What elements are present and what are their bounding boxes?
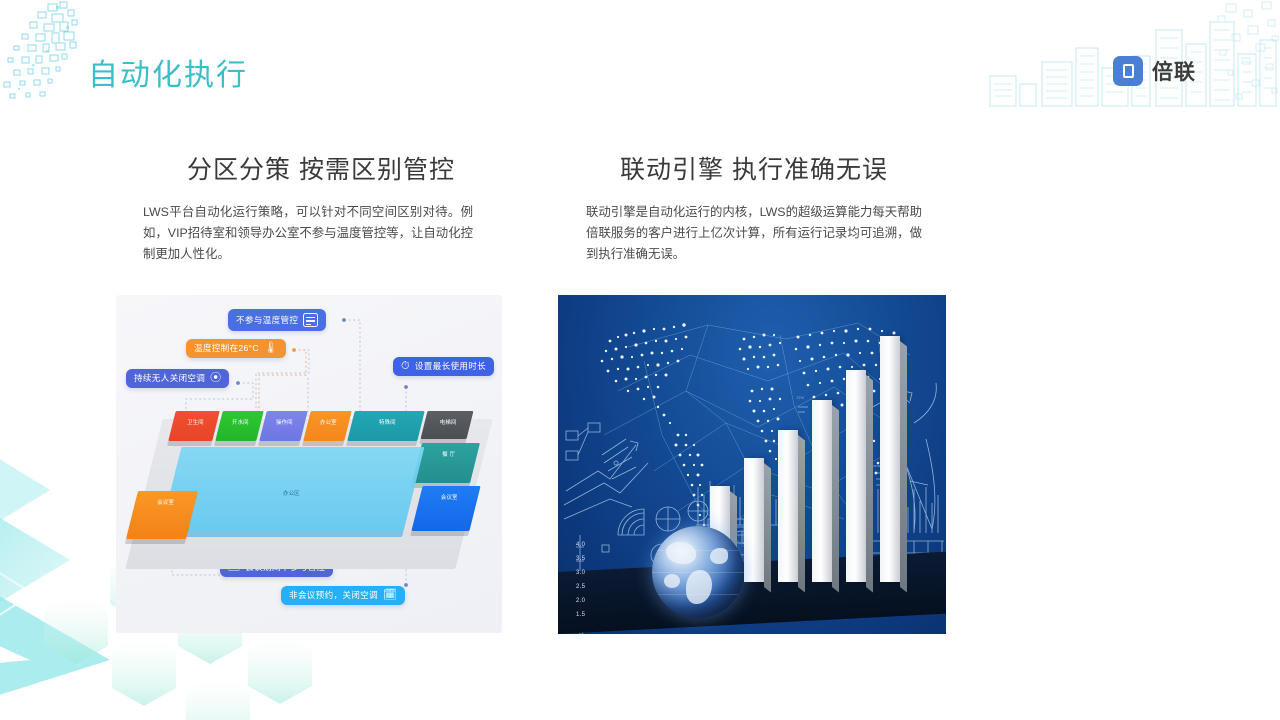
- chip-label: 温度控制在26°C: [194, 344, 259, 353]
- brand-name: 倍联: [1152, 56, 1196, 86]
- room-block-elevator-room[interactable]: 电梯间: [421, 411, 474, 439]
- timer-icon: ⏱: [401, 361, 410, 372]
- thermometer-icon: 🌡: [264, 343, 278, 354]
- room-block-water-room[interactable]: 开水间: [215, 411, 263, 441]
- axis-tick-5: 1.5: [576, 612, 585, 618]
- bar-4: [812, 400, 832, 582]
- column-right: 联动引擎 执行准确无误 联动引擎是自动化运行的内核，LWS的超级运算能力每天帮助…: [558, 150, 950, 265]
- room-block-office[interactable]: 办公室: [303, 411, 351, 441]
- motion-sensor-icon: ⦿: [210, 373, 221, 384]
- axis-tick-1: 3.5: [576, 556, 585, 562]
- chip-close-ac-without-booking[interactable]: 非会议预约，关闭空调 🗓: [281, 586, 405, 605]
- bar-3: [778, 430, 798, 582]
- room-block-special-room[interactable]: 特殊间: [347, 411, 424, 441]
- svg-text:72%: 72%: [796, 395, 804, 400]
- brand-logo: 倍联: [1113, 56, 1196, 86]
- calendar-clock-icon: 🗓: [383, 590, 397, 601]
- brand-mark-icon: [1113, 56, 1143, 86]
- axis-tick-4: 2.0: [576, 598, 585, 604]
- axis-tick-3: 2.5: [576, 584, 585, 590]
- room-block-open-office-area[interactable]: 办公区: [161, 447, 425, 531]
- bar-5: [846, 370, 866, 582]
- floorplan-3d: 卫生间 开水间 操作间 办公室 特殊间 电梯间 餐 厅 会议室 办公区 会议室: [136, 403, 486, 588]
- room-block-operation-room[interactable]: 操作间: [259, 411, 307, 441]
- chip-label: 设置最长使用时长: [415, 362, 486, 371]
- column-right-body: 联动引擎是自动化运行的内核，LWS的超级运算能力每天帮助倍联服务的客户进行上亿次…: [586, 202, 922, 265]
- chip-close-ac-when-vacant[interactable]: 持续无人关闭空调 ⦿: [126, 369, 229, 388]
- room-block-conference-room[interactable]: 会议室: [126, 491, 198, 539]
- room-block-restroom[interactable]: 卫生间: [168, 411, 219, 441]
- slide-canvas: 自动化执行 倍联 分区分策 按需区别管控 LWS平台自动化运行策略，可以针对不同…: [0, 0, 1280, 720]
- chip-label: 不参与温度管控: [236, 316, 298, 325]
- analytics-image: manage brand 72% 4.0 3.5 3.0 2.5 2.0 1.5: [558, 295, 946, 634]
- chip-label: 持续无人关闭空调: [134, 374, 205, 383]
- slide-header: 自动化执行 倍联: [0, 0, 1280, 118]
- column-right-heading: 联动引擎 执行准确无误: [558, 150, 950, 186]
- floorplan-illustration: 不参与温度管控 温度控制在26°C 🌡 持续无人关闭空调 ⦿ ⏱ 设置最长使用时…: [116, 295, 502, 633]
- axis-tick-0: 4.0: [576, 542, 585, 548]
- bar-2: [744, 458, 764, 582]
- chip-temperature-26[interactable]: 温度控制在26°C 🌡: [186, 339, 286, 358]
- chip-max-usage-duration[interactable]: ⏱ 设置最长使用时长: [393, 357, 494, 376]
- axis-tick-2: 3.0: [576, 570, 585, 576]
- column-left-body: LWS平台自动化运行策略，可以针对不同空间区别对待。例如，VIP招待室和领导办公…: [143, 202, 473, 265]
- list-panel-icon: [303, 313, 318, 327]
- column-left-heading: 分区分策 按需区别管控: [116, 150, 508, 186]
- globe-graphic: [652, 526, 744, 618]
- chip-no-temperature-control[interactable]: 不参与温度管控: [228, 309, 326, 331]
- column-left: 分区分策 按需区别管控 LWS平台自动化运行策略，可以针对不同空间区别对待。例如…: [116, 150, 508, 265]
- chip-label: 非会议预约，关闭空调: [289, 591, 378, 600]
- page-title: 自动化执行: [88, 50, 248, 94]
- room-block-meeting-room[interactable]: 会议室: [411, 486, 480, 531]
- bar-6: [880, 336, 900, 582]
